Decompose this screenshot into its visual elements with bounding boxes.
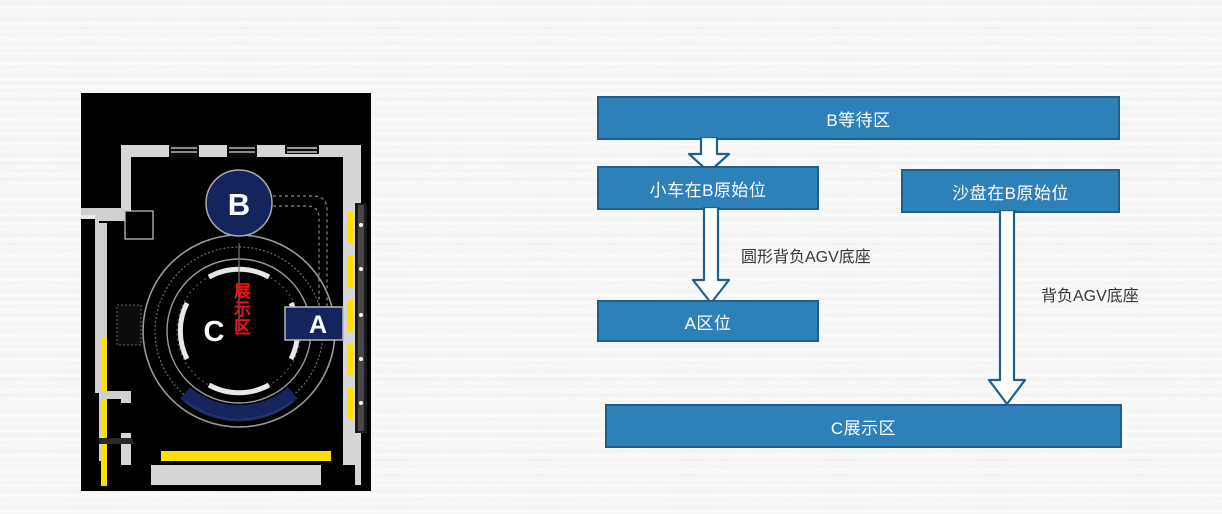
flow-box-label: C展示区 <box>831 414 896 439</box>
flow-box-c-exhibition-area[interactable]: C展示区 <box>605 404 1122 448</box>
floorplan-zone-b: B <box>206 170 272 236</box>
arrow-cart-b-to-a-zone[interactable] <box>688 207 734 305</box>
floorplan-zone-a: A <box>285 307 343 340</box>
floorplan-label-b: B <box>228 187 250 222</box>
flow-box-label: 沙盘在B原始位 <box>952 179 1069 204</box>
flow-box-label: A区位 <box>685 309 732 334</box>
floorplan-shelf-markers <box>347 203 367 433</box>
floorplan-bottom-strip <box>161 451 331 461</box>
warehouse-layout-photo: B C 展示区 A <box>81 93 371 491</box>
flow-box-cart-at-b-origin[interactable]: 小车在B原始位 <box>597 166 819 210</box>
edge-label-round-agv-base: 圆形背负AGV底座 <box>741 243 871 267</box>
floorplan-left-dock <box>125 211 153 239</box>
floorplan-label-a: A <box>309 311 327 339</box>
flow-box-b-waiting-area[interactable]: B等待区 <box>597 96 1120 140</box>
floorplan-corner-block <box>321 465 355 487</box>
floorplan-label-c: C <box>204 316 225 348</box>
flow-box-sandtable-at-b-origin[interactable]: 沙盘在B原始位 <box>901 169 1120 213</box>
flow-box-label: B等待区 <box>826 106 890 131</box>
floorplan-corner-block <box>117 465 151 487</box>
flow-box-label: 小车在B原始位 <box>650 176 767 201</box>
edge-label-agv-base: 背负AGV底座 <box>1041 282 1139 306</box>
floorplan-left-dock <box>117 305 141 345</box>
floorplan-label-exhibition-area: 展示区 <box>230 282 251 336</box>
arrow-sandtable-b-to-c-zone[interactable] <box>984 210 1030 406</box>
flow-box-a-zone[interactable]: A区位 <box>597 300 819 342</box>
